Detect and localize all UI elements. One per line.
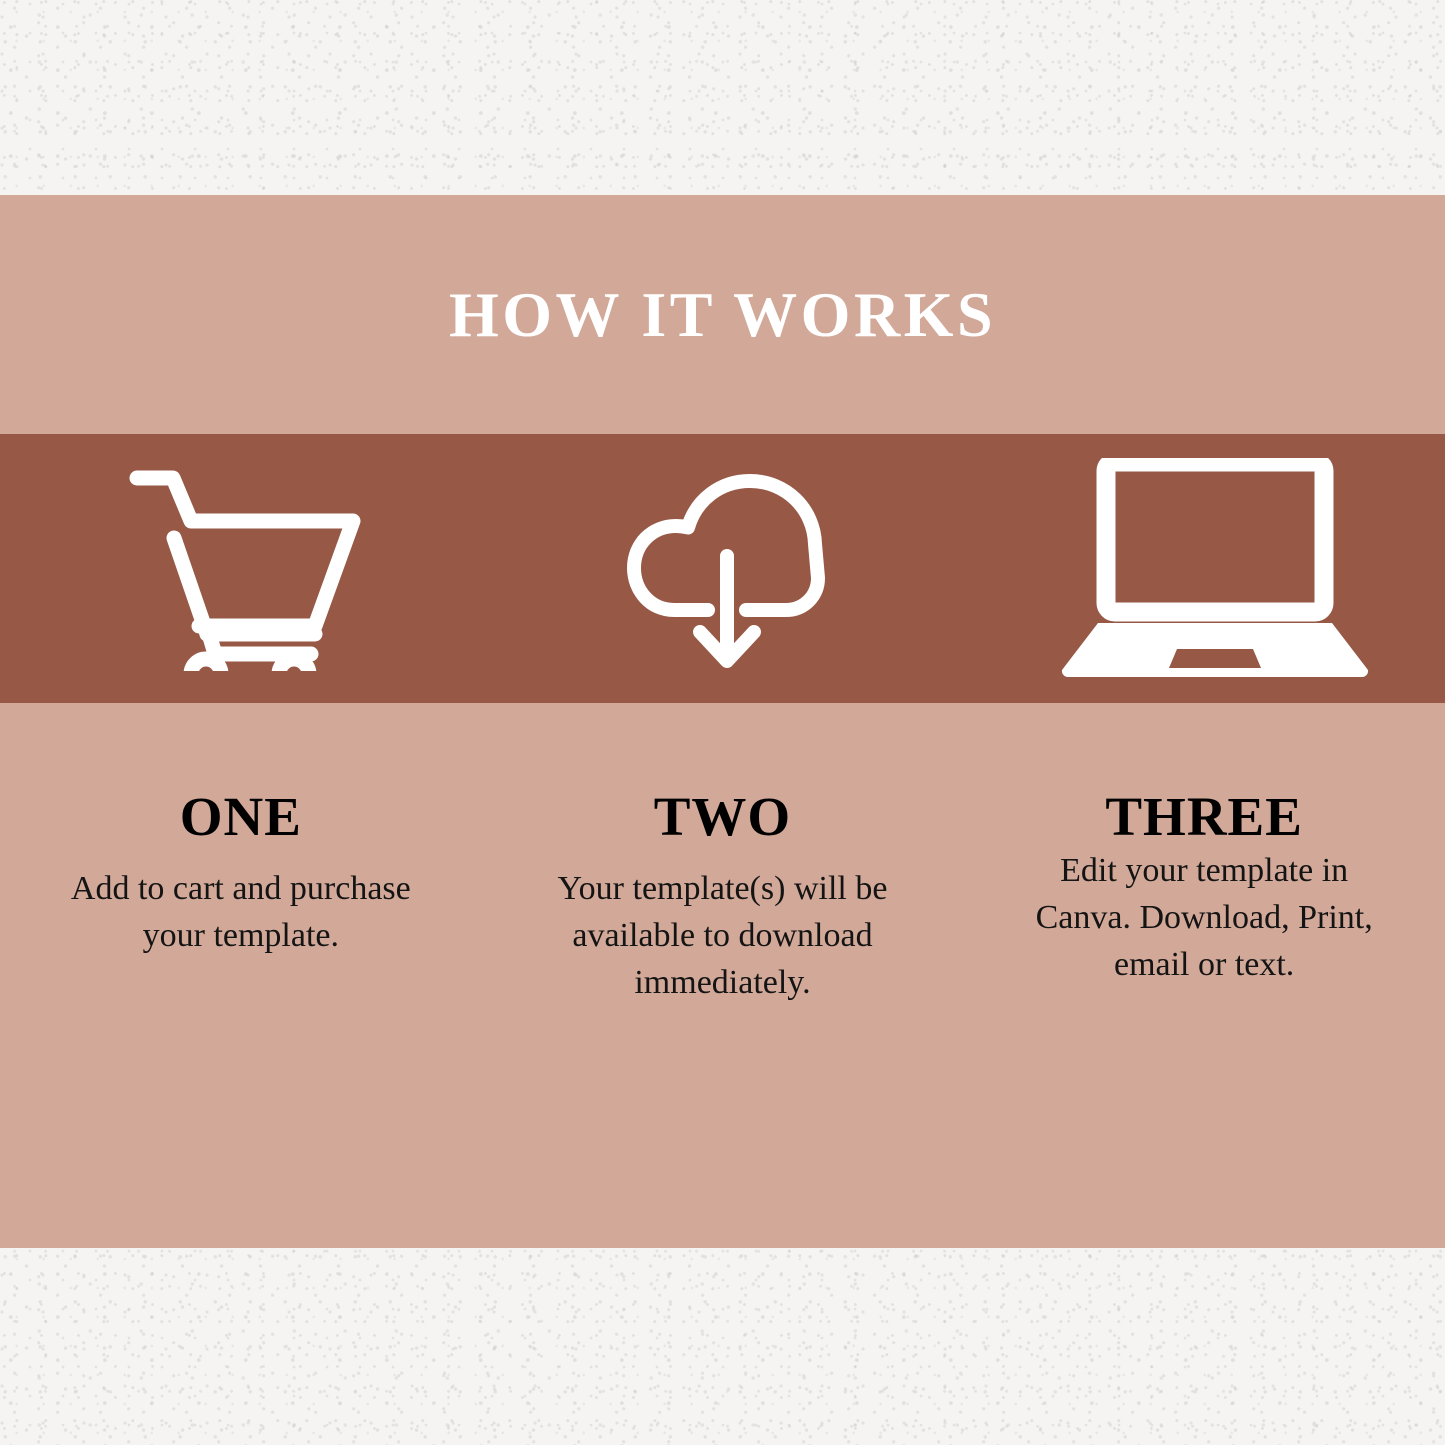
step-one-body: Add to cart and purchase your template. [51, 866, 431, 960]
icon-cell-one [0, 434, 486, 703]
steps-row: ONE Add to cart and purchase your templa… [0, 703, 1445, 1248]
step-two-heading: TWO [482, 789, 964, 844]
laptop-icon [1056, 458, 1374, 680]
icon-cell-three [952, 434, 1445, 703]
header: HOW IT WORKS [0, 195, 1445, 434]
page-title: HOW IT WORKS [449, 283, 996, 347]
step-three-heading: THREE [963, 789, 1445, 844]
step-three: THREE Edit your template in Canva. Downl… [963, 703, 1445, 1248]
infographic-canvas: HOW IT WORKS [0, 0, 1445, 1445]
step-one: ONE Add to cart and purchase your templa… [0, 703, 482, 1248]
icon-cell-two [478, 434, 968, 703]
shopping-cart-icon [129, 466, 361, 671]
step-two: TWO Your template(s) will be available t… [482, 703, 964, 1248]
step-three-body: Edit your template in Canva. Download, P… [1009, 848, 1399, 989]
icon-row [0, 434, 1445, 703]
cloud-download-icon [624, 464, 828, 674]
step-one-heading: ONE [0, 789, 482, 844]
step-two-body: Your template(s) will be available to do… [532, 866, 912, 1007]
